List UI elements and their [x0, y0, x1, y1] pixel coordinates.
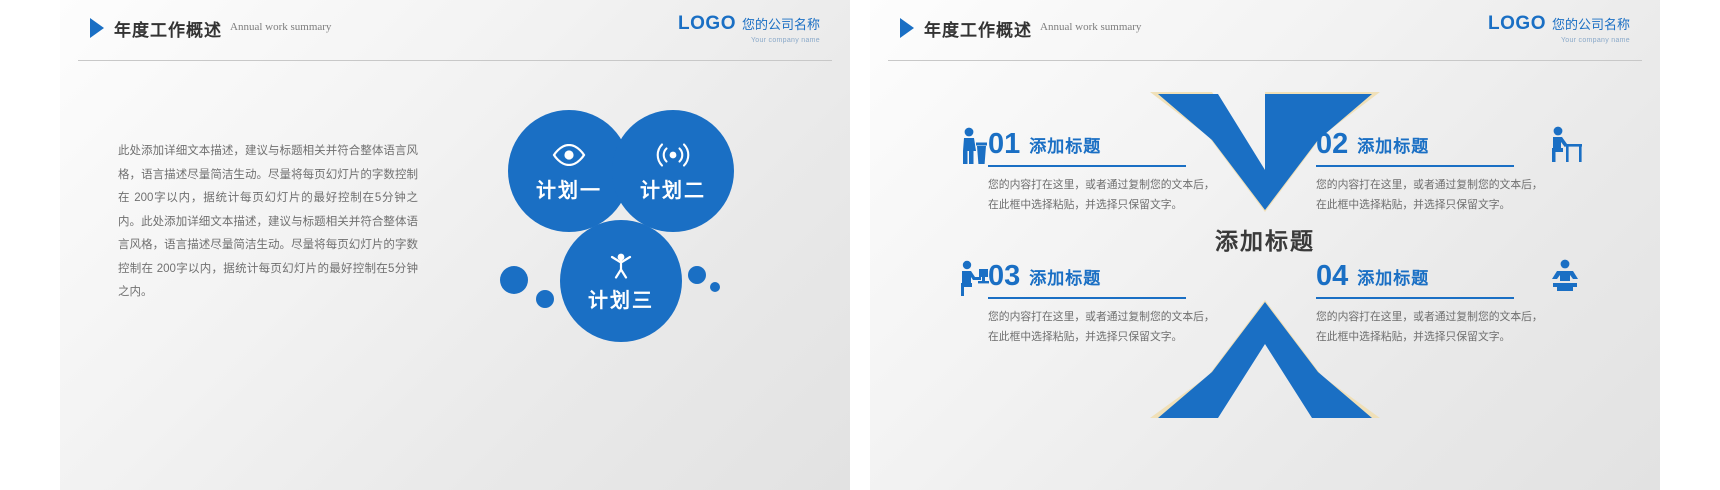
quadrant-03-divider: [988, 297, 1186, 299]
bubble-plan-2-label: 计划二: [640, 174, 706, 203]
quadrant-04[interactable]: 04 添加标题 您的内容打在这里，或者通过复制您的文本后，在此框中选择粘贴，并选…: [1316, 262, 1546, 348]
slide-1: 年度工作概述 Annual work summary LOGO 您的公司名称 Y…: [60, 0, 850, 490]
bubble-diagram: 计划一 计划二 计: [460, 90, 800, 390]
person-desk-icon: [1548, 124, 1584, 164]
decor-dot-4: [710, 282, 720, 292]
quadrant-03[interactable]: 03 添加标题 您的内容打在这里，或者通过复制您的文本后，在此框中选择粘贴，并选…: [988, 262, 1218, 348]
slide-gap: [850, 0, 870, 490]
quadrant-02-title: 添加标题: [1357, 132, 1429, 157]
quadrant-02-divider: [1316, 165, 1514, 167]
logo-company-en: Your company name: [1488, 37, 1630, 44]
quadrant-01-body: 您的内容打在这里，或者通过复制您的文本后，在此框中选择粘贴，并选择只保留文字。: [988, 176, 1218, 216]
quadrant-04-body: 您的内容打在这里，或者通过复制您的文本后，在此框中选择粘贴，并选择只保留文字。: [1316, 308, 1546, 348]
quadrant-02-body: 您的内容打在这里，或者通过复制您的文本后，在此框中选择粘贴，并选择只保留文字。: [1316, 176, 1546, 216]
triangle-bullet-icon: [900, 18, 914, 38]
decor-dot-1: [500, 266, 528, 294]
triangle-bullet-icon: [90, 18, 104, 38]
header-divider: [78, 60, 832, 61]
left-margin: [0, 0, 60, 490]
quadrant-02[interactable]: 02 添加标题 您的内容打在这里，或者通过复制您的文本后，在此框中选择粘贴，并选…: [1316, 130, 1546, 216]
quadrant-03-title: 添加标题: [1029, 264, 1101, 289]
slide-1-header: 年度工作概述 Annual work summary LOGO 您的公司名称 Y…: [60, 0, 850, 62]
decor-dot-2: [536, 290, 554, 308]
quadrant-01[interactable]: 01 添加标题 您的内容打在这里，或者通过复制您的文本后，在此框中选择粘贴，并选…: [988, 130, 1218, 216]
logo-text: LOGO: [678, 14, 736, 33]
quadrant-04-number: 04: [1316, 262, 1348, 291]
quadrant-01-title: 添加标题: [1029, 132, 1101, 157]
logo-company-cn: 您的公司名称: [1552, 18, 1630, 31]
right-margin: [1660, 0, 1720, 490]
quadrant-02-number: 02: [1316, 130, 1348, 159]
quadrant-03-number: 03: [988, 262, 1020, 291]
quadrant-01-number: 01: [988, 130, 1020, 159]
logo-text: LOGO: [1488, 14, 1546, 33]
person-podium-icon: [1548, 258, 1582, 294]
bubble-plan-1-label: 计划一: [536, 174, 602, 203]
bubble-plan-3-label: 计划三: [588, 284, 654, 313]
page-subtitle: Annual work summary: [230, 21, 331, 33]
logo-company-cn: 您的公司名称: [742, 18, 820, 31]
logo-block: LOGO 您的公司名称 Your company name: [1488, 14, 1630, 44]
slide-deck: 年度工作概述 Annual work summary LOGO 您的公司名称 Y…: [0, 0, 1720, 490]
quadrant-01-divider: [988, 165, 1186, 167]
body-paragraph: 此处添加详细文本描述，建议与标题相关并符合整体语言风格，语言描述尽量简洁生动。尽…: [118, 140, 418, 305]
slide-2-header: 年度工作概述 Annual work summary LOGO 您的公司名称 Y…: [870, 0, 1660, 62]
quadrant-04-title: 添加标题: [1357, 264, 1429, 289]
bubble-plan-2[interactable]: 计划二: [612, 110, 734, 232]
slide-2: 年度工作概述 Annual work summary LOGO 您的公司名称 Y…: [870, 0, 1660, 490]
eye-icon: [552, 140, 586, 170]
page-subtitle: Annual work summary: [1040, 21, 1141, 33]
signal-icon: [656, 140, 690, 170]
center-title: 添加标题: [870, 222, 1660, 256]
page-title: 年度工作概述: [114, 16, 222, 41]
quadrant-04-divider: [1316, 297, 1514, 299]
header-divider: [888, 60, 1642, 61]
page-title: 年度工作概述: [924, 16, 1032, 41]
person-computer-icon: [958, 258, 990, 298]
logo-block: LOGO 您的公司名称 Your company name: [678, 14, 820, 44]
person-trash-icon: [960, 126, 988, 166]
decor-dot-3: [688, 266, 706, 284]
bubble-plan-3[interactable]: 计划三: [560, 220, 682, 342]
person-celebrate-icon: [604, 250, 638, 280]
quadrant-03-body: 您的内容打在这里，或者通过复制您的文本后，在此框中选择粘贴，并选择只保留文字。: [988, 308, 1218, 348]
logo-company-en: Your company name: [678, 37, 820, 44]
